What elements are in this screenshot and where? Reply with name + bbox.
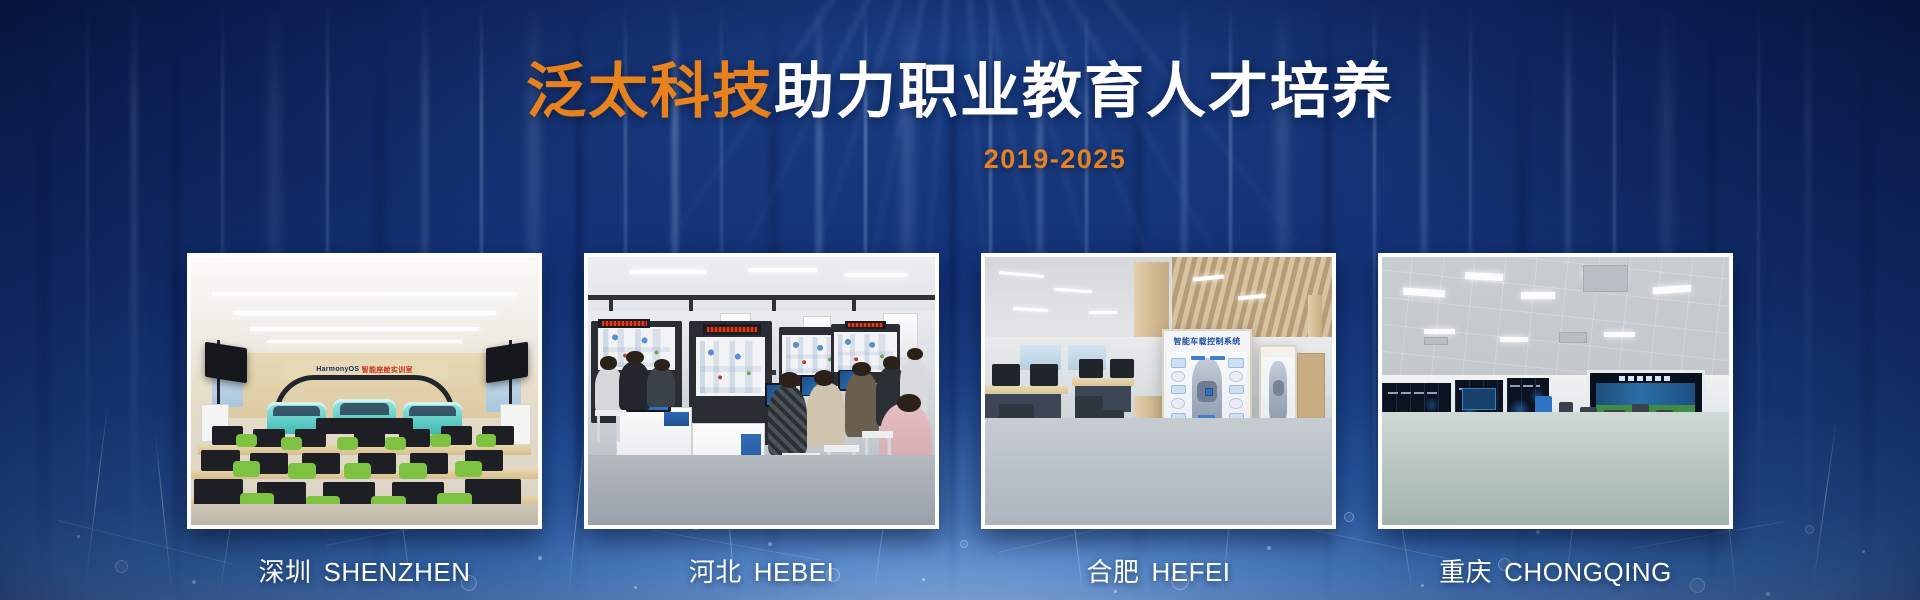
promo-banner: 泛太科技助力职业教育人才培养 2019-2025 HarmonyOS 智能座舱实… bbox=[0, 0, 1920, 600]
photo-frame: 智能车载控制系统 bbox=[981, 253, 1336, 529]
card-caption: 深圳SHENZHEN bbox=[187, 552, 542, 589]
title-tagline: 助力职业教育人才培养 bbox=[774, 57, 1394, 127]
date-range-subtitle: 2019-2025 bbox=[0, 144, 1920, 175]
caption-english: CHONGQING bbox=[1504, 557, 1672, 587]
page-title: 泛太科技助力职业教育人才培养 bbox=[0, 62, 1920, 122]
caption-english: SHENZHEN bbox=[324, 557, 471, 587]
gallery-card-hefei[interactable]: 智能车载控制系统 bbox=[981, 253, 1336, 589]
photo-harmonyos-smart-vehicle-classroom: HarmonyOS 智能座舱实训室 bbox=[191, 257, 538, 525]
card-caption: 合肥HEFEI bbox=[981, 552, 1336, 589]
caption-english: HEBEI bbox=[754, 557, 835, 587]
brand-name: 泛太科技 bbox=[526, 57, 774, 127]
gallery-card-shenzhen[interactable]: HarmonyOS 智能座舱实训室 bbox=[187, 253, 542, 589]
gallery-card-chongqing[interactable]: 重庆CHONGQING bbox=[1378, 253, 1733, 589]
photo-electrical-training-bench-lab bbox=[588, 257, 935, 525]
photo-gallery: HarmonyOS 智能座舱实训室 bbox=[0, 253, 1920, 589]
caption-chinese: 合肥 bbox=[1086, 558, 1139, 588]
caption-chinese: 河北 bbox=[689, 558, 742, 588]
caption-chinese: 深圳 bbox=[258, 558, 311, 588]
caption-chinese: 重庆 bbox=[1439, 558, 1492, 588]
photo-frame: HarmonyOS 智能座舱实训室 bbox=[187, 253, 542, 529]
caption-english: HEFEI bbox=[1151, 557, 1230, 587]
gallery-card-hebei[interactable]: 河北HEBEI bbox=[584, 253, 939, 589]
cabinet-title: 智能车载控制系统 bbox=[1164, 331, 1250, 352]
banner-heading-block: 泛太科技助力职业教育人才培养 2019-2025 bbox=[0, 62, 1920, 175]
photo-smart-vehicle-control-system-lab: 智能车载控制系统 bbox=[985, 257, 1332, 525]
photo-frame bbox=[584, 253, 939, 529]
card-caption: 重庆CHONGQING bbox=[1378, 552, 1733, 589]
photo-smart-manufacturing-showroom bbox=[1382, 257, 1729, 525]
card-caption: 河北HEBEI bbox=[584, 552, 939, 589]
photo-frame bbox=[1378, 253, 1733, 529]
